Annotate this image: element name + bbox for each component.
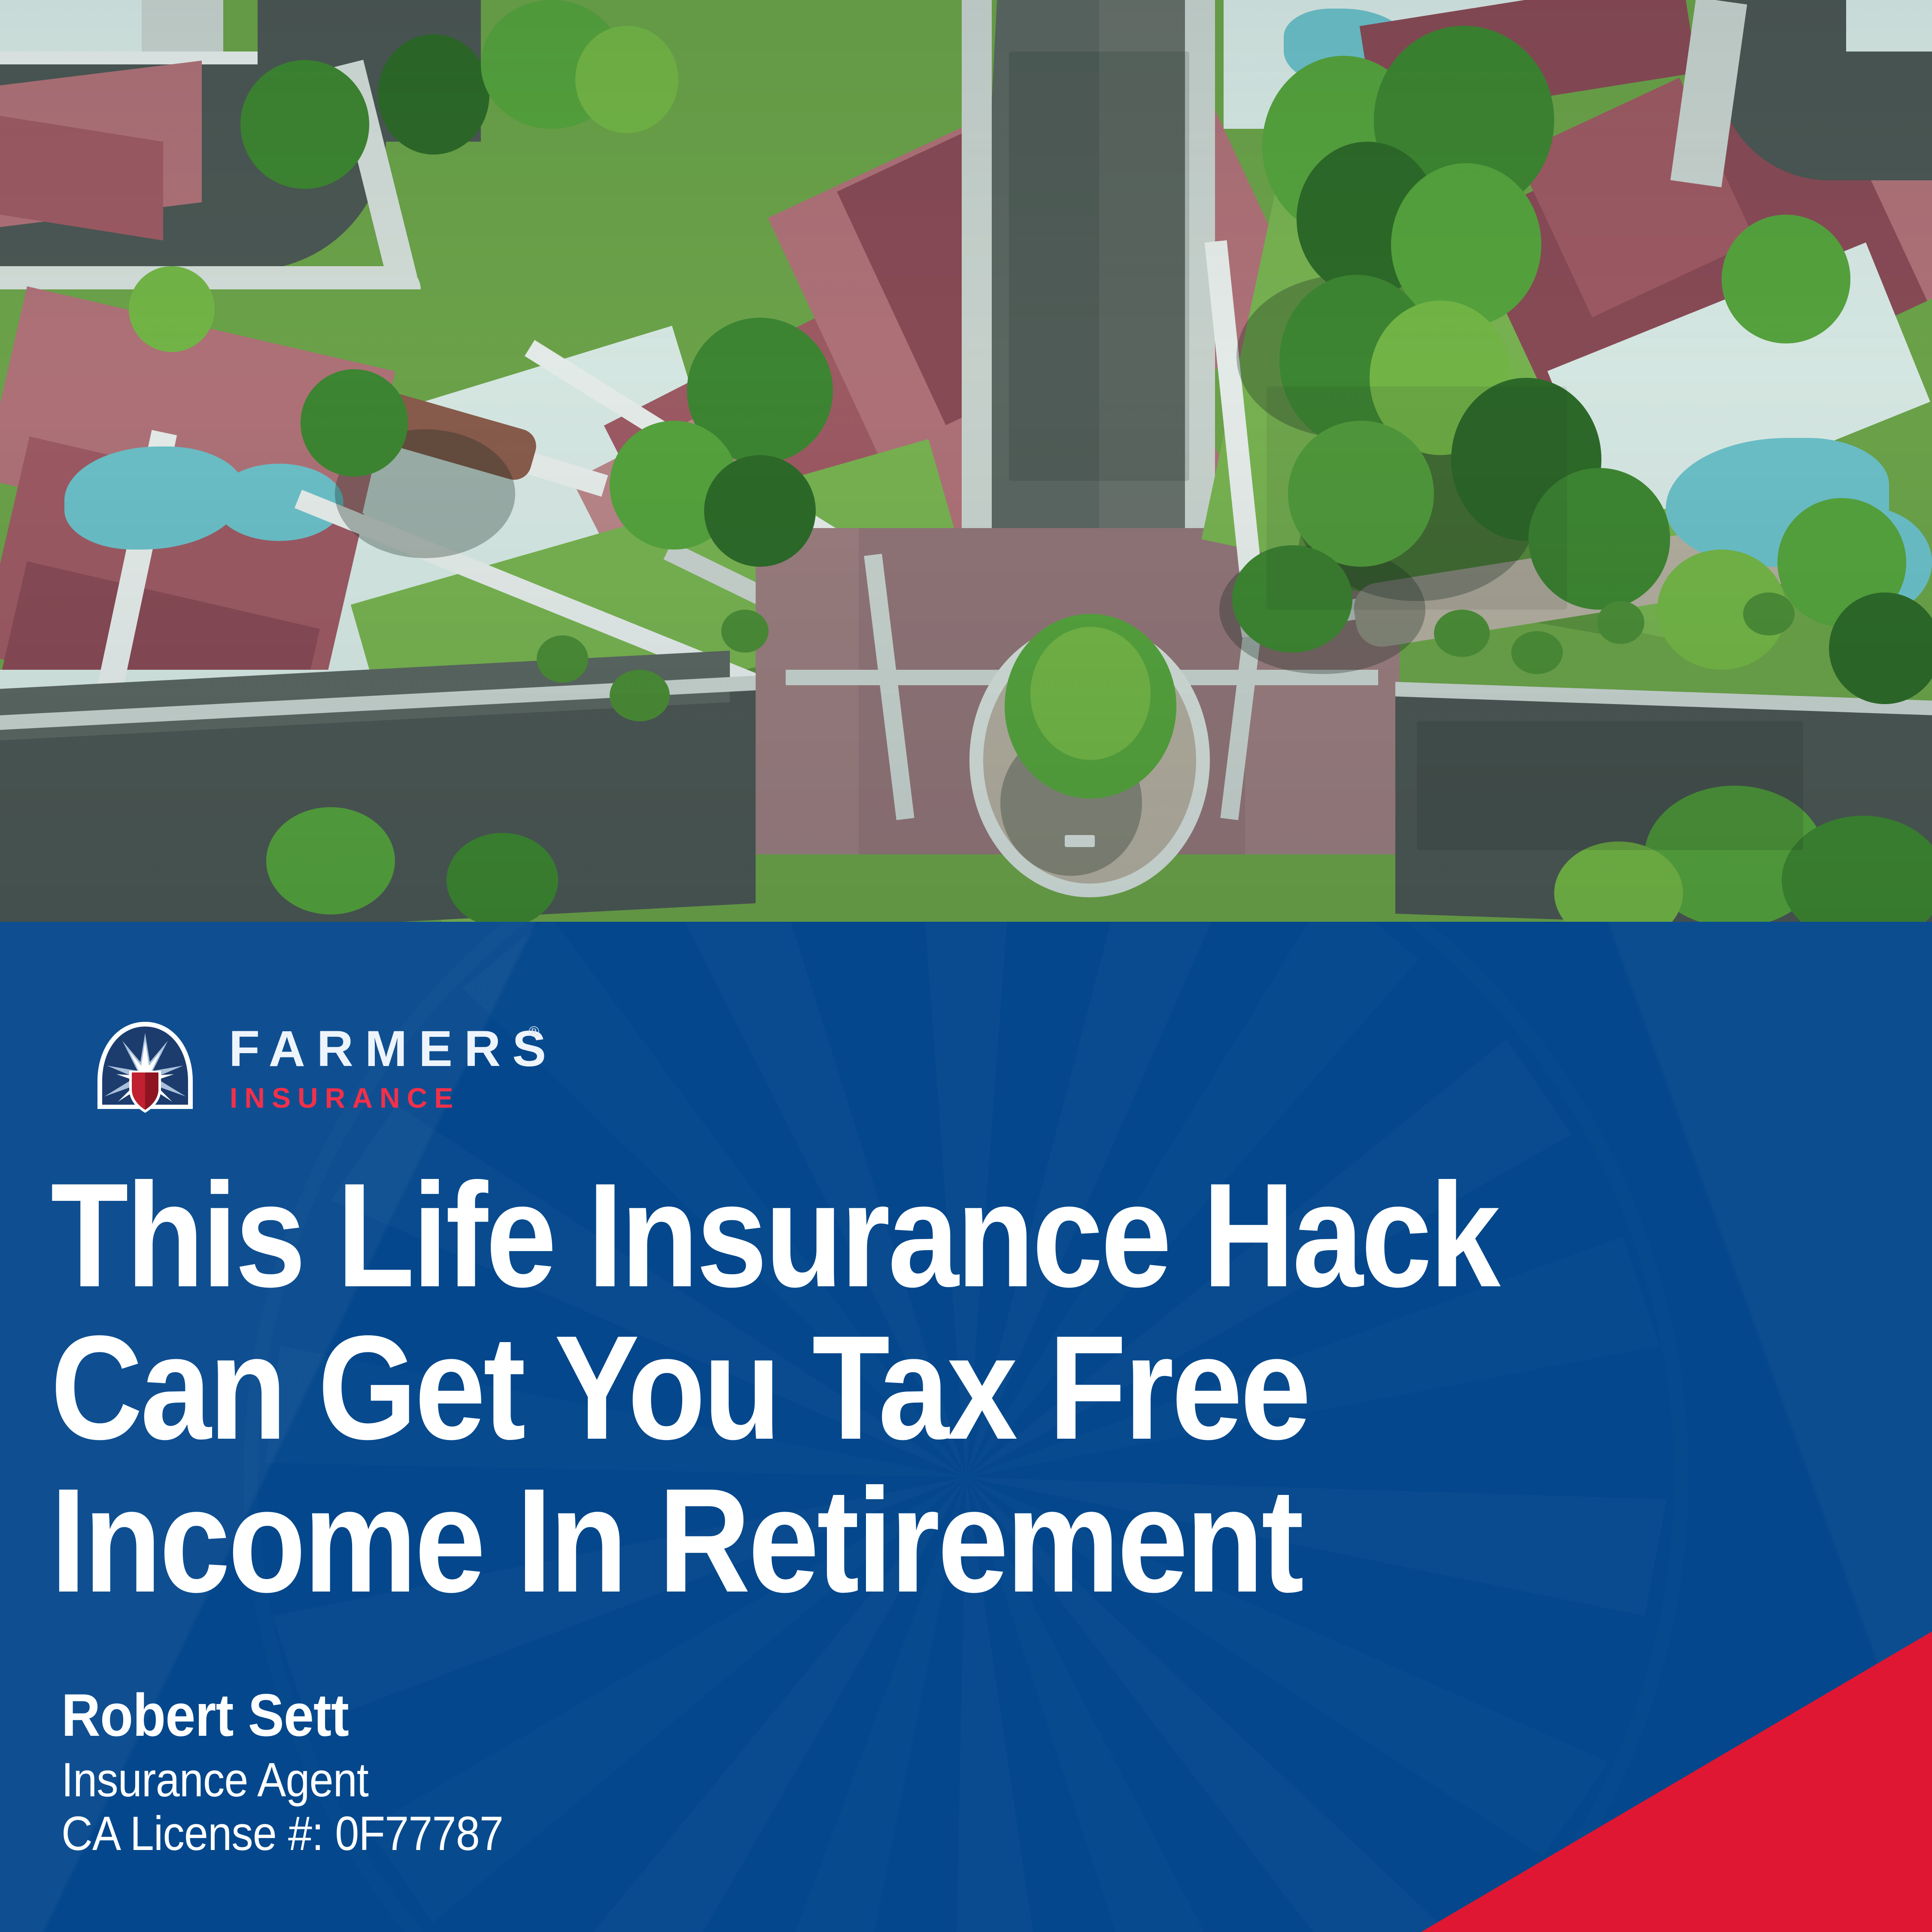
hero-aerial-photo — [0, 0, 1932, 922]
agent-role: Insurance Agent — [61, 1753, 503, 1807]
agent-license: CA License #: 0F77787 — [61, 1807, 503, 1860]
agent-info-block: Robert Sett Insurance Agent CA License #… — [61, 1685, 503, 1861]
photo-color-grade — [0, 0, 1932, 922]
social-post-card: FARMERS ® INSURANCE This Life Insurance … — [0, 0, 1932, 1932]
photo-scene — [0, 0, 1932, 922]
logo-sub-wordmark: INSURANCE — [230, 1084, 460, 1112]
logo-wordmark: FARMERS — [229, 1024, 558, 1074]
page-title: This Life Insurance Hack Can Get You Tax… — [51, 1159, 1564, 1617]
farmers-shield-sunburst-icon — [91, 1021, 199, 1118]
registered-trademark-icon: ® — [529, 1024, 539, 1039]
agent-name: Robert Sett — [61, 1685, 503, 1745]
farmers-insurance-logo[interactable]: FARMERS ® INSURANCE — [91, 1021, 559, 1118]
